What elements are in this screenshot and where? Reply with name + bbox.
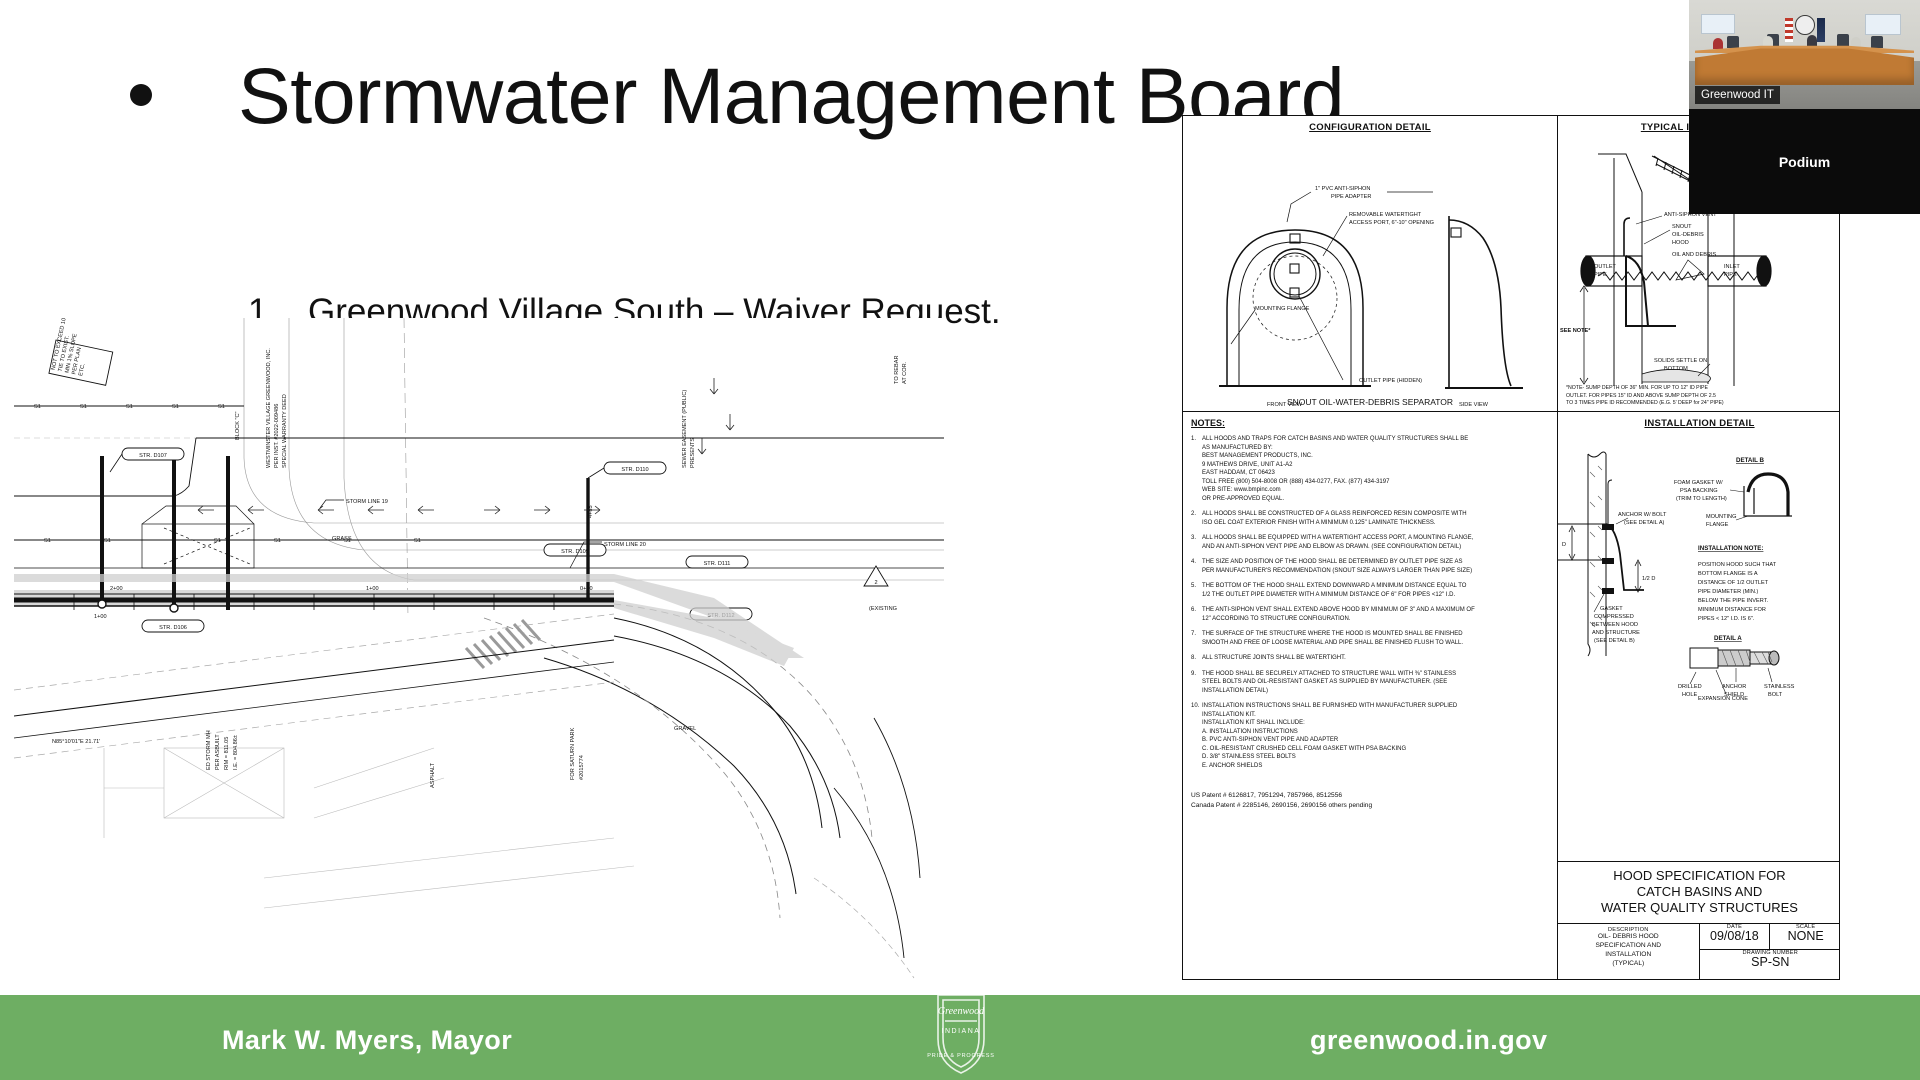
svg-text:STORM LINE 19: STORM LINE 19 [346,499,388,505]
svg-text:SEE NOTE*: SEE NOTE* [1560,328,1591,334]
svg-text:AT COR.: AT COR. [902,361,908,384]
svg-text:(SEE DETAIL B): (SEE DETAIL B) [1594,638,1635,644]
svg-text:FLANGE: FLANGE [1706,522,1729,528]
svg-text:ED STORM MH: ED STORM MH [206,730,212,770]
note-body: THE HOOD SHALL BE SECURELY ATTACHED TO S… [1202,670,1549,696]
note-line: OR PRE-APPROVED EQUAL. [1202,495,1549,504]
svg-text:STAINLESS: STAINLESS [1764,684,1795,690]
svg-text:MOUNTING FLANGE: MOUNTING FLANGE [1255,306,1310,312]
note-line: WEB SITE: www.bmpinc.com [1202,486,1549,495]
chair [1837,34,1849,46]
projector-screen-right [1865,14,1901,35]
canada-patent-line: Canada Patent # 2285146, 2690156, 269015… [1191,801,1549,812]
svg-text:OUTLET PIPE (HIDDEN): OUTLET PIPE (HIDDEN) [1359,378,1422,384]
note-body: ALL HOODS AND TRAPS FOR CATCH BASINS AND… [1202,435,1549,503]
svg-text:SHIELD: SHIELD [1724,692,1744,698]
note-line: C. OIL-RESISTANT CRUSHED CELL FOAM GASKE… [1202,745,1549,754]
title-block-drawing-number: DRAWING NUMBER SP-SN [1700,950,1841,979]
svg-text:TO REBAR: TO REBAR [894,356,900,385]
note-item: 8.ALL STRUCTURE JOINTS SHALL BE WATERTIG… [1191,654,1549,663]
date-value: 09/08/18 [1700,930,1770,943]
note-number: 10. [1191,702,1202,770]
svg-text:SEWER EASEMENT (PUBLIC): SEWER EASEMENT (PUBLIC) [682,390,688,468]
note-line: ALL HOODS SHALL BE EQUIPPED WITH A WATER… [1202,534,1549,543]
title-block-scale: SCALE NONE [1770,924,1840,949]
note-line: INSTALLATION INSTRUCTIONS SHALL BE FURNI… [1202,702,1549,711]
svg-text:S1: S1 [44,538,51,544]
svg-text:(SEE DETAIL A): (SEE DETAIL A) [1624,520,1665,526]
projector-screen-left [1701,14,1735,34]
svg-text:1/2 D: 1/2 D [1642,576,1655,582]
slide-canvas: Stormwater Management Board 1. Greenwood… [0,0,1920,1080]
svg-text:INSTALLATION NOTE:: INSTALLATION NOTE: [1698,545,1763,552]
drawing-number-value: SP-SN [1700,956,1841,969]
svg-text:STR. D110: STR. D110 [621,467,648,473]
svg-text:PIPE: PIPE [1594,272,1607,278]
svg-text:ACCESS PORT, 6"-10" OPENING: ACCESS PORT, 6"-10" OPENING [1349,220,1434,226]
svg-text:BOLT: BOLT [1768,692,1783,698]
note-number: 9. [1191,670,1202,696]
note-number: 8. [1191,654,1202,663]
person [1807,35,1817,46]
note-line: A. INSTALLATION INSTRUCTIONS [1202,728,1549,737]
svg-text:GRASS: GRASS [332,536,352,542]
svg-text:OIL AND DEBRIS: OIL AND DEBRIS [1672,252,1717,258]
svg-text:4+85: 4+85 [588,505,594,518]
svg-text:PER INST. #2022-009486: PER INST. #2022-009486 [274,404,280,468]
note-number: 3. [1191,534,1202,551]
note-line: THE SIZE AND POSITION OF THE HOOD SHALL … [1202,558,1549,567]
svg-text:N85°10'01"E 21.71': N85°10'01"E 21.71' [52,739,100,745]
svg-text:SPECIAL WARRANTY DEED: SPECIAL WARRANTY DEED [282,394,288,468]
footer-website-url[interactable]: greenwood.in.gov [1310,1025,1547,1056]
svg-text:DISTANCE OF 1/2 OUTLET: DISTANCE OF 1/2 OUTLET [1698,580,1769,586]
title-block: HOOD SPECIFICATION FOR CATCH BASINS AND … [1558,861,1840,979]
svg-text:STR. D106: STR. D106 [159,625,187,631]
svg-text:STR. D111: STR. D111 [704,561,731,567]
note-line: THE SURFACE OF THE STRUCTURE WHERE THE H… [1202,630,1549,639]
svg-text:S1: S1 [126,404,133,410]
svg-text:STR. D107: STR. D107 [139,453,167,459]
flag-right-icon [1817,18,1825,42]
svg-text:AND STRUCTURE: AND STRUCTURE [1592,630,1640,636]
seal-mid-text: INDIANA [942,1028,981,1035]
video-overlay-panel[interactable]: Greenwood IT Podium [1689,0,1920,214]
note-line: INSTALLATION KIT. [1202,711,1549,720]
note-item: 9.THE HOOD SHALL BE SECURELY ATTACHED TO… [1191,670,1549,696]
footer-bar: Mark W. Myers, Mayor greenwood.in.gov Gr… [0,995,1920,1080]
svg-text:D: D [1562,542,1566,548]
svg-text:REMOVABLE WATERTIGHT: REMOVABLE WATERTIGHT [1349,212,1422,218]
note-line: 9 MATHEWS DRIVE, UNIT A1-A2 [1202,461,1549,470]
description-line-4: (TYPICAL) [1558,960,1699,969]
bullet-dot-icon [130,84,152,106]
note-number: 2. [1191,510,1202,527]
note-item: 2.ALL HOODS SHALL BE CONSTRUCTED OF A GL… [1191,510,1549,527]
note-body: THE SIZE AND POSITION OF THE HOOD SHALL … [1202,558,1549,575]
note-line: THE BOTTOM OF THE HOOD SHALL EXTEND DOWN… [1202,582,1549,591]
configuration-detail-caption: SNOUT OIL-WATER-DEBRIS SEPARATOR [1183,397,1557,407]
svg-text:S1: S1 [414,538,421,544]
svg-text:OIL-DEBRIS: OIL-DEBRIS [1672,232,1704,238]
svg-text:S1: S1 [218,404,225,410]
spec-sheet-drawing: CONFIGURATION DETAIL [1182,115,1840,980]
note-line: AS MANUFACTURED BY: [1202,444,1549,453]
note-body: THE SURFACE OF THE STRUCTURE WHERE THE H… [1202,630,1549,647]
person [1763,36,1773,47]
svg-text:RIM = 811.05: RIM = 811.05 [224,737,230,770]
title-block-title: HOOD SPECIFICATION FOR CATCH BASINS AND … [1558,861,1840,923]
svg-text:PIPE DIAMETER (MIN.): PIPE DIAMETER (MIN.) [1698,589,1758,595]
seal-top-text: Greenwood [938,1006,985,1017]
svg-text:1+00: 1+00 [94,614,107,620]
patents-block: US Patent # 6126817, 7951294, 7857966, 8… [1191,791,1549,812]
svg-text:STR. D109: STR. D109 [561,549,589,555]
note-body: ALL HOODS SHALL BE CONSTRUCTED OF A GLAS… [1202,510,1549,527]
video-podium-label: Podium [1779,154,1830,170]
svg-text:SOLIDS SETTLE ON: SOLIDS SETTLE ON [1654,358,1707,364]
note-item: 10.INSTALLATION INSTRUCTIONS SHALL BE FU… [1191,702,1549,770]
title-block-description: DESCRIPTION OIL- DEBRIS HOOD SPECIFICATI… [1558,924,1700,979]
note-line: BEST MANAGEMENT PRODUCTS, INC. [1202,452,1549,461]
svg-text:OUTLET: OUTLET [1594,264,1617,270]
note-body: THE BOTTOM OF THE HOOD SHALL EXTEND DOWN… [1202,582,1549,599]
video-tile-greenwood-it[interactable]: Greenwood IT [1689,0,1920,109]
svg-text:2: 2 [874,580,877,586]
svg-text:STORM LINE 20: STORM LINE 20 [604,542,646,548]
note-line: SMOOTH AND FREE OF LOOSE MATERIAL AND PI… [1202,639,1549,648]
page-title: Stormwater Management Board [238,56,1344,135]
site-plan-drawing: S1S1S1 S1S1 S1S1S1 S1S1S1 [14,318,944,990]
svg-text:HOLE: HOLE [1682,692,1698,698]
note-line: INSTALLATION DETAIL) [1202,687,1549,696]
city-seal-icon [1795,15,1815,35]
note-line: ALL HOODS SHALL BE CONSTRUCTED OF A GLAS… [1202,510,1549,519]
footer-mayor-name: Mark W. Myers, Mayor [222,1025,512,1056]
note-line: D. 3/8" STAINLESS STEEL BOLTS [1202,753,1549,762]
note-body: THE ANTI-SIPHON VENT SHALL EXTEND ABOVE … [1202,606,1549,623]
note-line: EAST HADDAM, CT 06423 [1202,469,1549,478]
note-number: 7. [1191,630,1202,647]
note-number: 5. [1191,582,1202,599]
svg-text:GRAVEL: GRAVEL [674,726,696,732]
chair [1871,36,1883,48]
note-line: STEEL BOLTS AND OIL-RESISTANT GASKET AS … [1202,678,1549,687]
note-line: B. PVC ANTI-SIPHON VENT PIPE AND ADAPTER [1202,736,1549,745]
svg-text:PIPES < 12" I.D. IS 6".: PIPES < 12" I.D. IS 6". [1698,616,1755,622]
svg-text:DETAIL B: DETAIL B [1736,457,1764,464]
svg-text:1" PVC ANTI-SIPHON: 1" PVC ANTI-SIPHON [1315,186,1370,192]
svg-text:MOUNTING: MOUNTING [1706,514,1736,520]
typical-installation-note: *NOTE- SUMP DEPTH OF 36" MIN. FOR UP TO … [1566,385,1835,408]
svg-text:ANCHOR: ANCHOR [1722,684,1746,690]
person [1713,38,1723,49]
svg-text:DETAIL A: DETAIL A [1714,635,1742,642]
video-tile-podium[interactable]: Podium [1689,109,1920,214]
note-line: 1/2 THE OUTLET PIPE DIAMETER WITH A MINI… [1202,591,1549,600]
note-body: INSTALLATION INSTRUCTIONS SHALL BE FURNI… [1202,702,1549,770]
greenwood-seal-logo: Greenwood INDIANA PRIDE & PROGRESS [908,981,1014,1079]
svg-text:PIPE ADAPTER: PIPE ADAPTER [1331,194,1371,200]
svg-text:BETWEEN HOOD: BETWEEN HOOD [1592,622,1638,628]
seal-bottom-text: PRIDE & PROGRESS [927,1053,995,1059]
note-number: 6. [1191,606,1202,623]
svg-text:PRESENTS: PRESENTS [690,438,696,468]
note-line: TOLL FREE (800) 504-8008 OR (888) 434-02… [1202,478,1549,487]
notes-section: NOTES: 1.ALL HOODS AND TRAPS FOR CATCH B… [1183,412,1557,814]
svg-text:WESTMINSTER VILLAGE GREENWOOD,: WESTMINSTER VILLAGE GREENWOOD, INC. [266,348,272,468]
svg-text:GASKET: GASKET [1600,606,1623,612]
svg-text:PSA BACKING: PSA BACKING [1680,488,1718,494]
title-block-line-3: WATER QUALITY STRUCTURES [1562,900,1837,916]
svg-text:S1: S1 [172,404,179,410]
note-line: INSTALLATION KIT SHALL INCLUDE: [1202,719,1549,728]
svg-text:FOR SATURN PARK: FOR SATURN PARK [570,727,576,780]
svg-text:BOTTOM FLANGE IS A: BOTTOM FLANGE IS A [1698,571,1758,577]
note-line: E. ANCHOR SHIELDS [1202,762,1549,771]
note-body: ALL STRUCTURE JOINTS SHALL BE WATERTIGHT… [1202,654,1549,663]
video-participant-label: Greenwood IT [1695,86,1780,104]
svg-text:HOOD: HOOD [1672,240,1689,246]
note-line: ISO GEL COAT EXTERIOR FINISH WITH A MINI… [1202,519,1549,528]
note-line: THE HOOD SHALL BE SECURELY ATTACHED TO S… [1202,670,1549,679]
note-item: 1.ALL HOODS AND TRAPS FOR CATCH BASINS A… [1191,435,1549,503]
note-line: AND AN ANTI-SIPHON VENT PIPE AND ELBOW A… [1202,543,1549,552]
note-body: ALL HOODS SHALL BE EQUIPPED WITH A WATER… [1202,534,1549,551]
note-item: 3.ALL HOODS SHALL BE EQUIPPED WITH A WAT… [1191,534,1549,551]
svg-text:S1: S1 [104,538,111,544]
svg-text:INLET: INLET [1724,264,1740,270]
us-patent-line: US Patent # 6126817, 7951294, 7857966, 8… [1191,791,1549,802]
note-line-1: *NOTE- SUMP DEPTH OF 36" MIN. FOR UP TO … [1566,385,1835,393]
svg-text:SNOUT: SNOUT [1672,224,1692,230]
installation-detail-heading: INSTALLATION DETAIL [1558,412,1840,429]
title-block-line-1: HOOD SPECIFICATION FOR [1562,868,1837,884]
svg-text:PIPE: PIPE [1724,272,1737,278]
note-line-2: OUTLET. FOR PIPES 15" ID AND ABOVE SUMP … [1566,393,1835,401]
svg-text:ASPHALT: ASPHALT [430,762,436,788]
svg-text:(TRIM TO LENGTH): (TRIM TO LENGTH) [1676,496,1727,502]
note-line: PER MANUFACTURER'S RECOMMENDATION (SNOUT… [1202,567,1549,576]
note-item: 7.THE SURFACE OF THE STRUCTURE WHERE THE… [1191,630,1549,647]
svg-text:FOAM GASKET W/: FOAM GASKET W/ [1674,480,1723,486]
svg-text:S1: S1 [274,538,281,544]
note-item: 4.THE SIZE AND POSITION OF THE HOOD SHAL… [1191,558,1549,575]
svg-text:ANCHOR W/ BOLT: ANCHOR W/ BOLT [1618,512,1667,518]
svg-text:2+00: 2+00 [110,586,123,592]
note-item: 6.THE ANTI-SIPHON VENT SHALL EXTEND ABOV… [1191,606,1549,623]
spec-left-column: CONFIGURATION DETAIL [1183,116,1557,979]
notes-title: NOTES: [1191,418,1549,428]
svg-text:BLOCK "C": BLOCK "C" [235,411,241,440]
notes-list: 1.ALL HOODS AND TRAPS FOR CATCH BASINS A… [1191,435,1549,771]
description-line-1: OIL- DEBRIS HOOD [1558,933,1699,942]
note-number: 1. [1191,435,1202,503]
scale-value: NONE [1770,930,1840,943]
chair [1727,36,1739,48]
title-block-date: DATE 09/08/18 [1700,924,1771,949]
svg-text:PER ASBUILT: PER ASBUILT [215,734,221,770]
svg-text:S1: S1 [80,404,87,410]
svg-text:POSITION HOOD SUCH THAT: POSITION HOOD SUCH THAT [1698,562,1777,568]
svg-text:1+00: 1+00 [366,586,379,592]
svg-text:I.E. = 804.86±: I.E. = 804.86± [233,735,239,770]
svg-text:BELOW THE PIPE INVERT.: BELOW THE PIPE INVERT. [1698,598,1768,604]
svg-text:BOTTOM: BOTTOM [1664,366,1688,372]
note-line: ALL HOODS AND TRAPS FOR CATCH BASINS AND… [1202,435,1549,444]
svg-text:COMPRESSED: COMPRESSED [1594,614,1634,620]
svg-text:#2015774: #2015774 [579,755,585,780]
spec-right-column: TYPICAL INSTALLATION [1557,116,1840,979]
svg-text:MINIMUM DISTANCE FOR: MINIMUM DISTANCE FOR [1698,607,1766,613]
configuration-detail-heading: CONFIGURATION DETAIL [1183,116,1557,133]
flag-left-icon [1785,18,1793,42]
svg-text:(EXISTING: (EXISTING [869,606,897,612]
svg-text:S1: S1 [34,404,41,410]
note-number: 4. [1191,558,1202,575]
svg-text:DRILLED: DRILLED [1678,684,1702,690]
note-item: 5.THE BOTTOM OF THE HOOD SHALL EXTEND DO… [1191,582,1549,599]
note-line: THE ANTI-SIPHON VENT SHALL EXTEND ABOVE … [1202,606,1549,615]
description-line-3: INSTALLATION [1558,951,1699,960]
title-block-line-2: CATCH BASINS AND [1562,884,1837,900]
note-line-3: TO 3 TIMES PIPE ID RECOMMENDED (E.G. 5' … [1566,400,1835,408]
note-line: ALL STRUCTURE JOINTS SHALL BE WATERTIGHT… [1202,654,1549,663]
description-line-2: SPECIFICATION AND [1558,942,1699,951]
note-line: 12" ACCORDING TO STRUCTURE CONFIGURATION… [1202,615,1549,624]
